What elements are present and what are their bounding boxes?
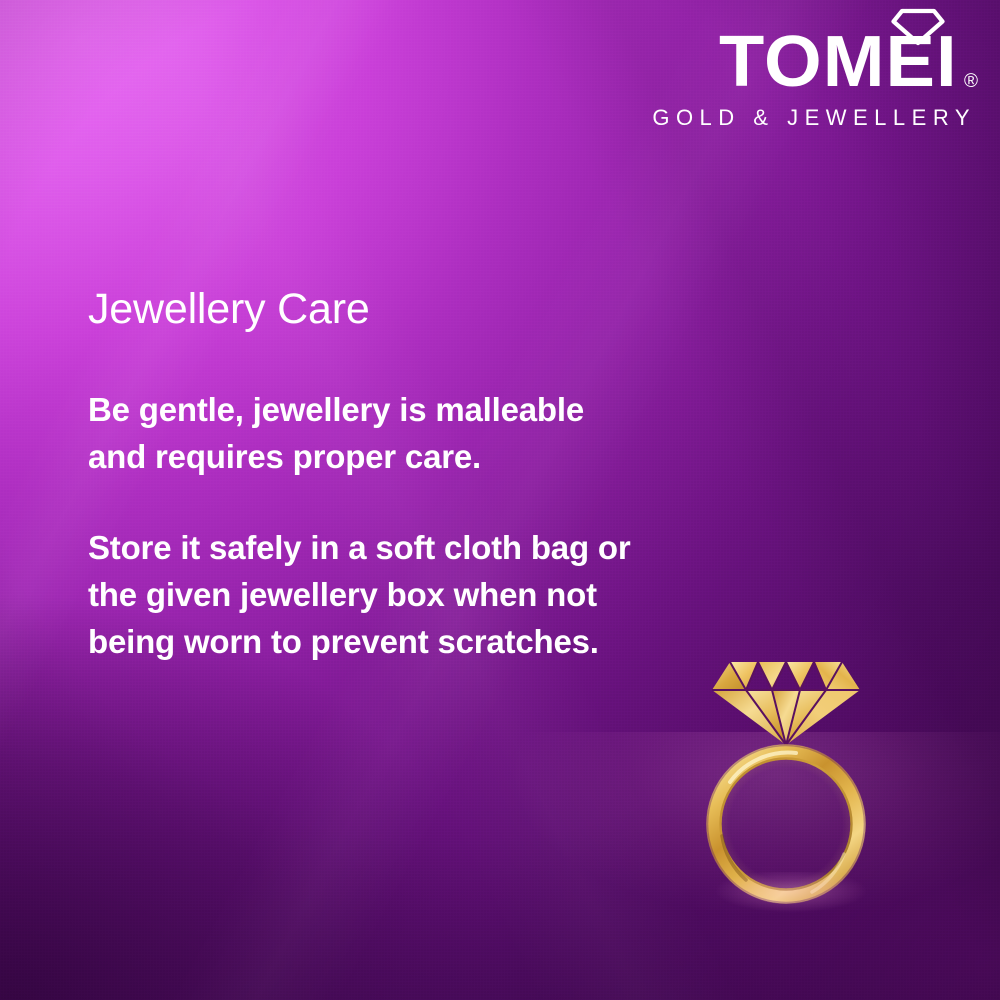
content-block: Jewellery Care Be gentle, jewellery is m… (88, 286, 648, 666)
jewellery-care-poster: TOMEI ® GOLD & JEWELLERY Jewellery Care … (0, 0, 1000, 1000)
tomei-logo: TOMEI ® GOLD & JEWELLERY (648, 6, 978, 131)
care-paragraph-1: Be gentle, jewellery is malleable and re… (88, 387, 633, 481)
logo-tagline: GOLD & JEWELLERY (648, 105, 976, 131)
gold-diamond-icon (712, 662, 860, 745)
page-title: Jewellery Care (88, 286, 648, 333)
diamond-ring-svg (686, 640, 886, 920)
diamond-ring-illustration (686, 640, 886, 920)
gold-ring-band-icon (706, 744, 866, 904)
logo-wordmark-row: TOMEI ® (648, 32, 978, 94)
registered-trademark-symbol: ® (964, 72, 978, 91)
logo-wordmark-text: TOMEI (719, 32, 958, 94)
care-paragraph-2: Store it safely in a soft cloth bag or t… (88, 525, 633, 666)
